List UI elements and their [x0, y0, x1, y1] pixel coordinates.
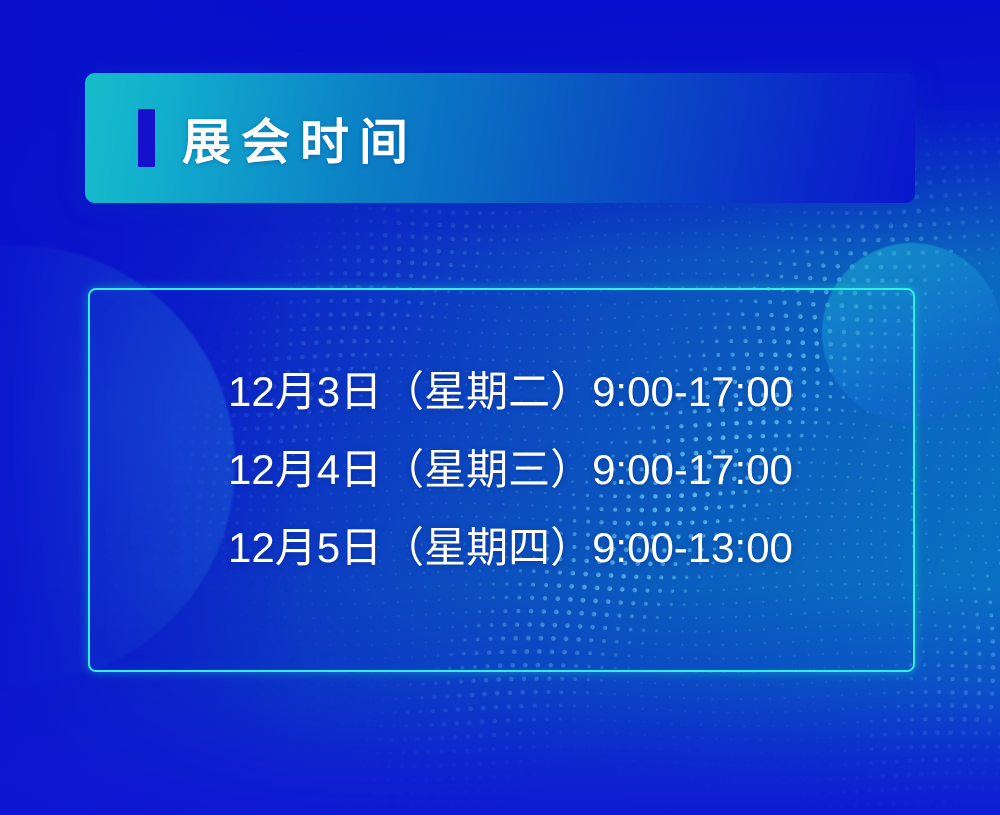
- poster-canvas: 展会时间 12月3日（星期二）9:00-17:00 12月4日（星期三）9:00…: [0, 0, 1000, 815]
- schedule-list: 12月3日（星期二）9:00-17:00 12月4日（星期三）9:00-17:0…: [228, 370, 793, 570]
- schedule-line: 12月3日（星期二）9:00-17:00: [228, 370, 793, 414]
- schedule-line: 12月5日（星期四）9:00-13:00: [228, 526, 793, 570]
- section-header-banner: 展会时间: [85, 73, 915, 203]
- header-accent-bar: [138, 109, 155, 167]
- page-title: 展会时间: [182, 73, 418, 203]
- schedule-line: 12月4日（星期三）9:00-17:00: [228, 448, 793, 492]
